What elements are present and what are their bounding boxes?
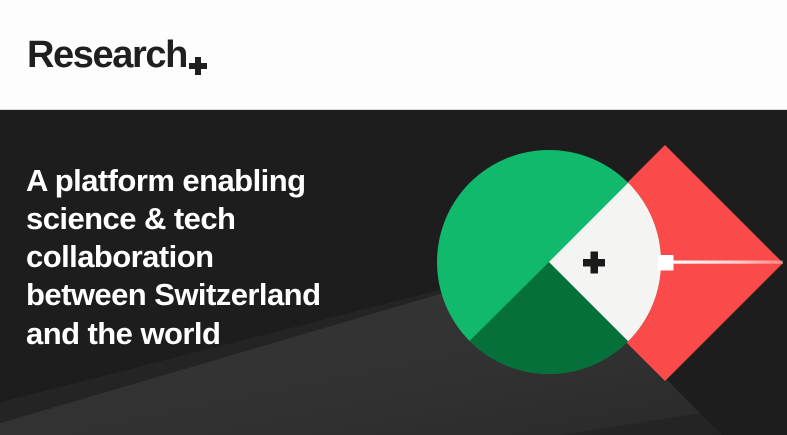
brand-mark-illustration: [0, 110, 787, 435]
screenshot-root: Research A platform enabling science & t…: [0, 0, 787, 435]
hero-graphic: [0, 110, 787, 435]
brand-logo[interactable]: Research: [27, 38, 208, 73]
brand-logo-wordmark: Research: [27, 38, 187, 73]
hero-section: A platform enabling science & tech colla…: [0, 110, 787, 435]
site-header: Research: [0, 0, 787, 110]
plus-icon: [188, 56, 208, 76]
square-marker: [658, 255, 674, 271]
connector-line: [672, 261, 783, 264]
